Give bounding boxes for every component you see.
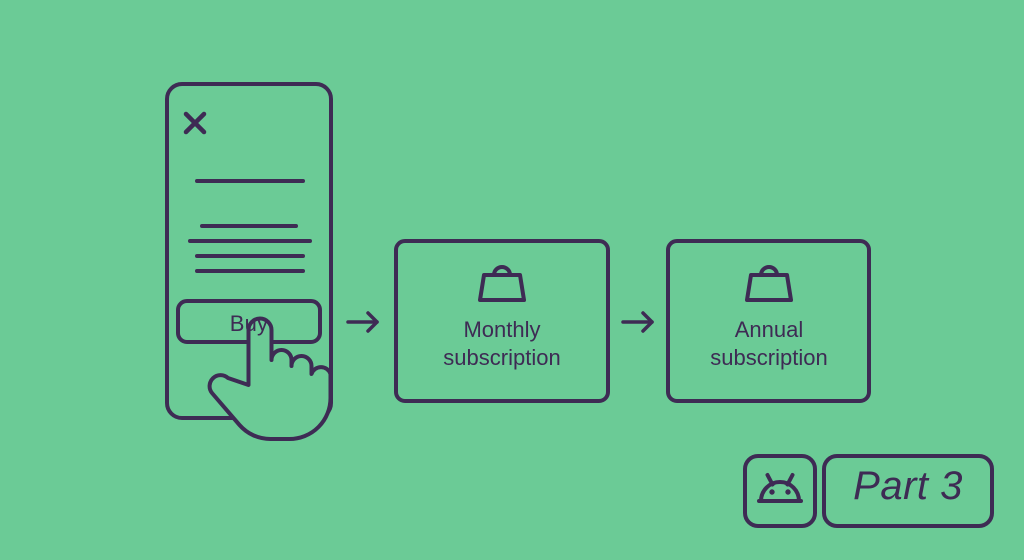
android-badge[interactable] xyxy=(745,456,815,526)
android-head-icon xyxy=(759,475,801,501)
phone-content-lines xyxy=(190,181,310,271)
card-frame xyxy=(668,241,869,401)
illustration-artwork xyxy=(0,0,1024,560)
arrow-right-icon xyxy=(348,313,377,331)
shopping-bag-icon xyxy=(747,267,791,300)
shopping-bag-icon xyxy=(480,267,524,300)
part-badge[interactable] xyxy=(824,456,992,526)
part-badge-frame xyxy=(824,456,992,526)
monthly-subscription-card[interactable] xyxy=(396,241,608,401)
annual-subscription-card[interactable] xyxy=(668,241,869,401)
pointing-hand-icon xyxy=(210,319,331,440)
illustration-canvas: Buy Monthly subscription Annual subscrip… xyxy=(0,0,1024,560)
close-x-icon[interactable] xyxy=(186,114,204,132)
android-badge-frame xyxy=(745,456,815,526)
arrow-right-icon xyxy=(623,313,652,331)
